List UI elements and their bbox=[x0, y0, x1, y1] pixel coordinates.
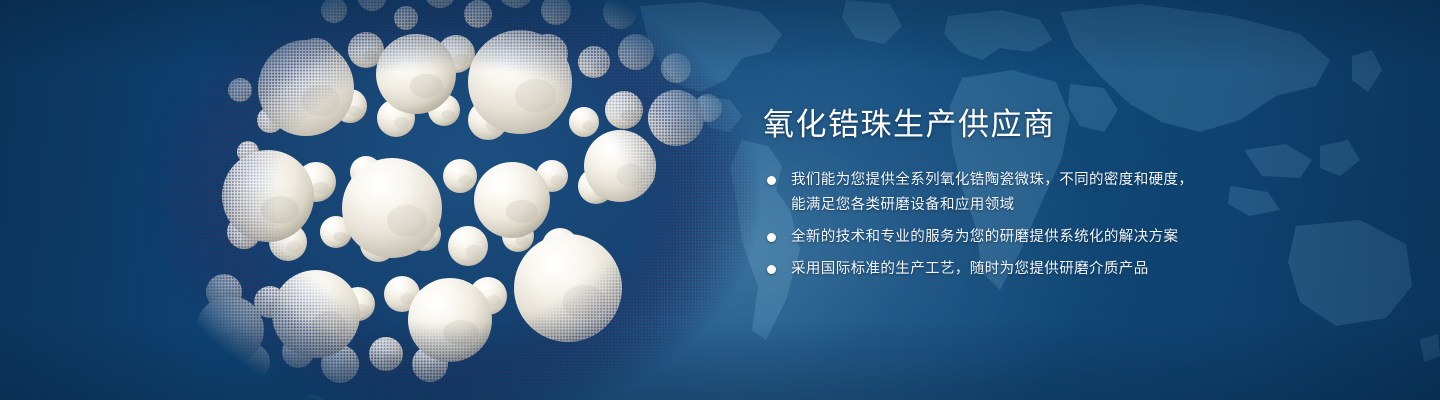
banner-headline: 氧化锆珠生产供应商 bbox=[763, 106, 1283, 144]
feature-bullet-list: 我们能为您提供全系列氧化锆陶瓷微珠，不同的密度和硬度， 能满足您各类研磨设备和应… bbox=[763, 168, 1283, 282]
bullet-line: 采用国际标准的生产工艺，随时为您提供研磨介质产品 bbox=[791, 257, 1283, 282]
banner-copy: 氧化锆珠生产供应商 我们能为您提供全系列氧化锆陶瓷微珠，不同的密度和硬度， 能满… bbox=[763, 106, 1283, 282]
bullet-line: 全新的技术和专业的服务为您的研磨提供系统化的解决方案 bbox=[791, 225, 1283, 250]
bullet-dot-icon bbox=[767, 265, 776, 274]
feature-bullet-technology-service: 全新的技术和专业的服务为您的研磨提供系统化的解决方案 bbox=[763, 225, 1283, 250]
feature-bullet-standards: 采用国际标准的生产工艺，随时为您提供研磨介质产品 bbox=[763, 257, 1283, 282]
bullet-dot-icon bbox=[767, 233, 776, 242]
feature-bullet-product-range: 我们能为您提供全系列氧化锆陶瓷微珠，不同的密度和硬度， 能满足您各类研磨设备和应… bbox=[763, 168, 1283, 218]
bullet-line: 能满足您各类研磨设备和应用领域 bbox=[791, 193, 1283, 218]
hero-banner: 氧化锆珠生产供应商 我们能为您提供全系列氧化锆陶瓷微珠，不同的密度和硬度， 能满… bbox=[0, 0, 1440, 400]
bullet-line: 我们能为您提供全系列氧化锆陶瓷微珠，不同的密度和硬度， bbox=[791, 168, 1283, 193]
bullet-dot-icon bbox=[767, 176, 776, 185]
